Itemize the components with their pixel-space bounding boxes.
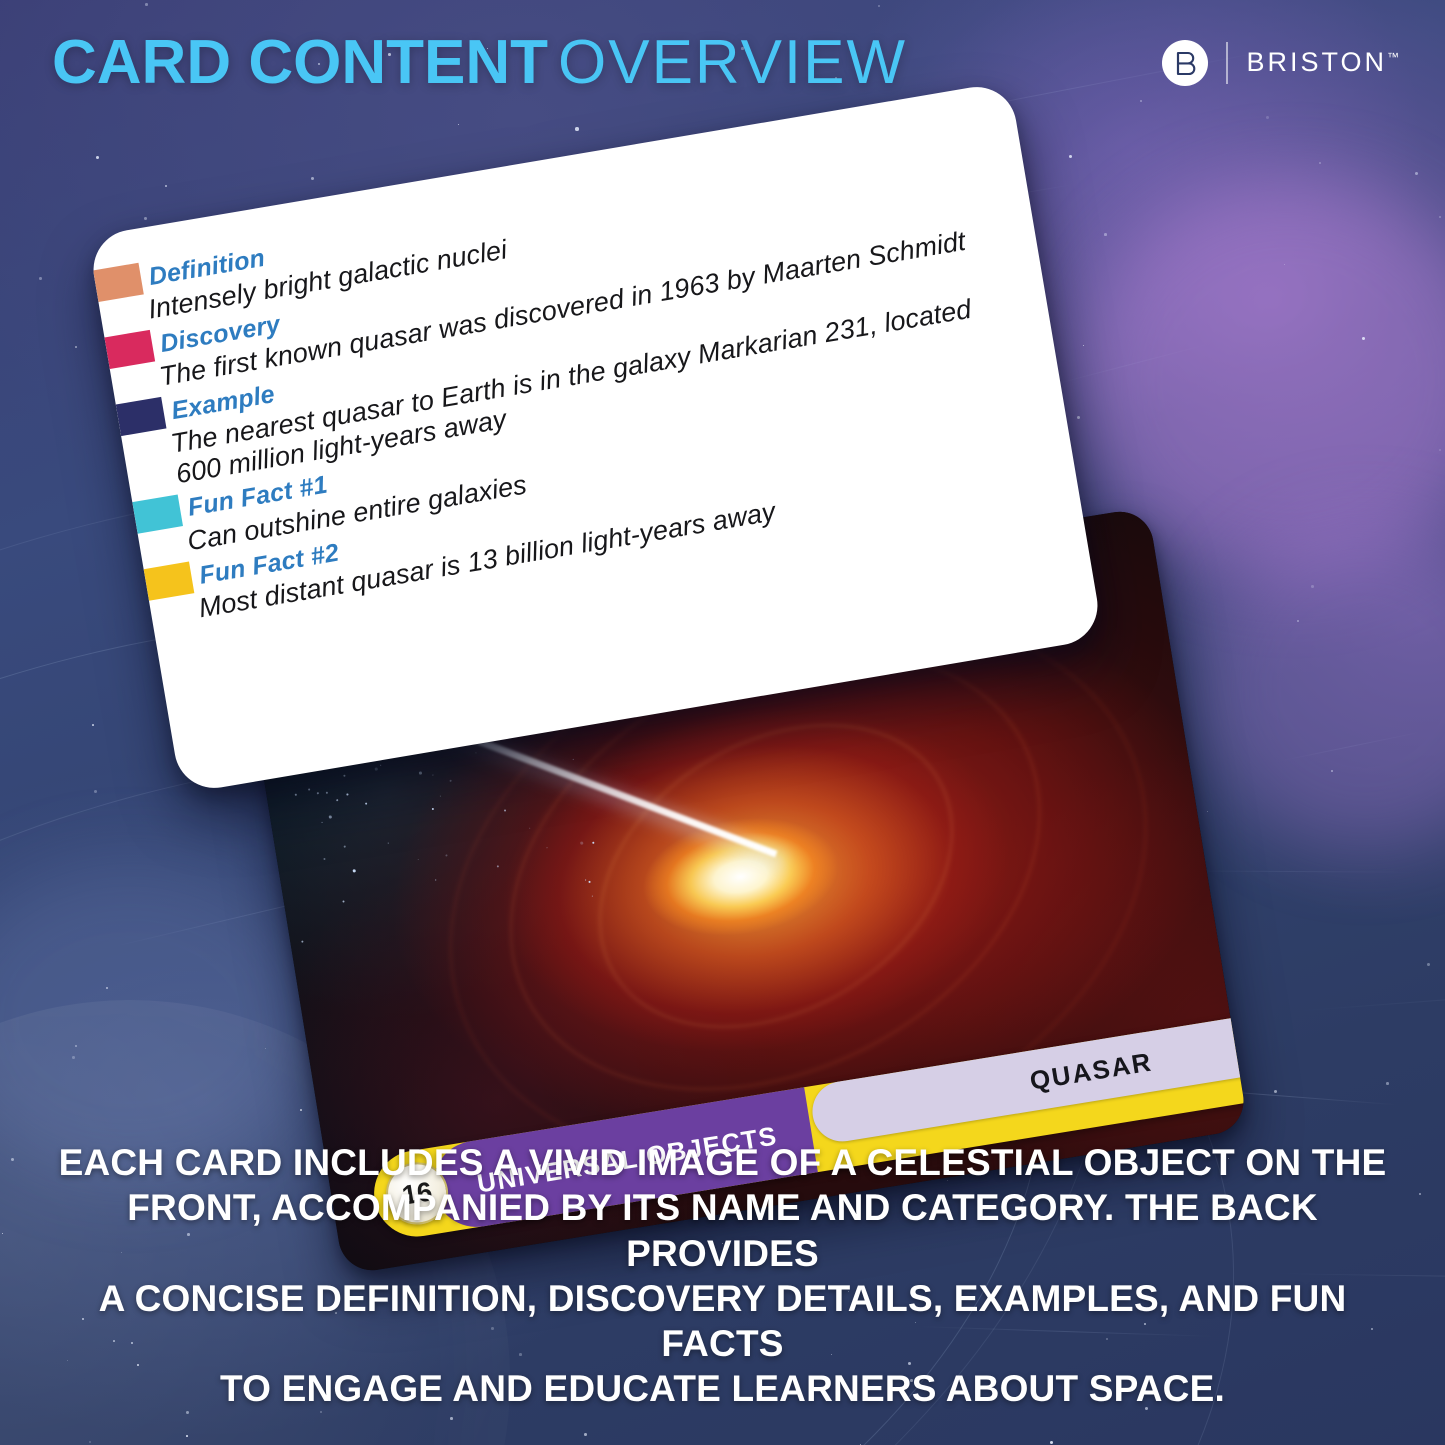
brand-name: BRISTON™ [1246,47,1399,78]
color-swatch-fun-fact-2 [144,562,195,601]
card-star [380,765,381,766]
brand-trademark: ™ [1387,50,1399,64]
briston-logo-icon [1162,40,1208,86]
brand-logo: BRISTON™ [1162,40,1399,86]
card-star [497,865,500,868]
page-title-light: OVERVIEW [558,28,907,97]
card-star [323,858,325,860]
card-star [375,767,378,770]
card-star [573,759,574,760]
card-star [418,859,419,860]
color-swatch-fun-fact-1 [132,494,183,533]
page-title: CARD CONTENTOVERVIEW [52,27,907,98]
card-star [344,845,346,847]
card-star [317,792,319,794]
card-star [336,799,339,802]
footer-line-1: EACH CARD INCLUDES A VIVID IMAGE OF A CE… [46,1140,1399,1185]
card-star [388,842,389,843]
brand-name-text: BRISTON [1246,47,1387,77]
footer-line-4: TO ENGAGE AND EDUCATE LEARNERS ABOUT SPA… [46,1366,1399,1411]
card-star [435,879,436,880]
header: CARD CONTENTOVERVIEW BRISTON™ [0,0,1445,125]
card-star [308,788,311,791]
card-star [588,881,590,883]
card-star [365,802,367,804]
color-swatch-definition [93,263,144,302]
card-star [353,869,356,872]
card-star [301,940,304,943]
card-star [504,809,507,812]
card-star [322,822,323,823]
card-star [329,815,332,818]
card-star [529,828,530,829]
color-swatch-example [116,397,167,436]
card-star [445,854,447,856]
footer-line-3: A CONCISE DEFINITION, DISCOVERY DETAILS,… [46,1276,1399,1366]
card-star [585,879,586,880]
card-star [546,847,548,849]
brand-divider [1226,42,1228,84]
card-star [449,780,452,783]
color-swatch-discovery [104,330,155,369]
card-star [580,841,583,844]
card-star [342,900,345,903]
card-star [295,794,297,796]
card-star [592,896,593,897]
footer-line-2: FRONT, ACCOMPANIED BY ITS NAME AND CATEG… [46,1185,1399,1275]
card-star [346,793,348,795]
card-star [326,792,328,794]
card-star [343,775,346,778]
card-star [432,775,433,776]
card-star [432,808,435,811]
page-title-bold: CARD CONTENT [52,28,548,97]
footer-description: EACH CARD INCLUDES A VIVID IMAGE OF A CE… [0,1140,1445,1411]
card-star [475,752,476,753]
card-star [419,771,422,774]
card-star [440,796,441,797]
card-star [592,842,594,844]
